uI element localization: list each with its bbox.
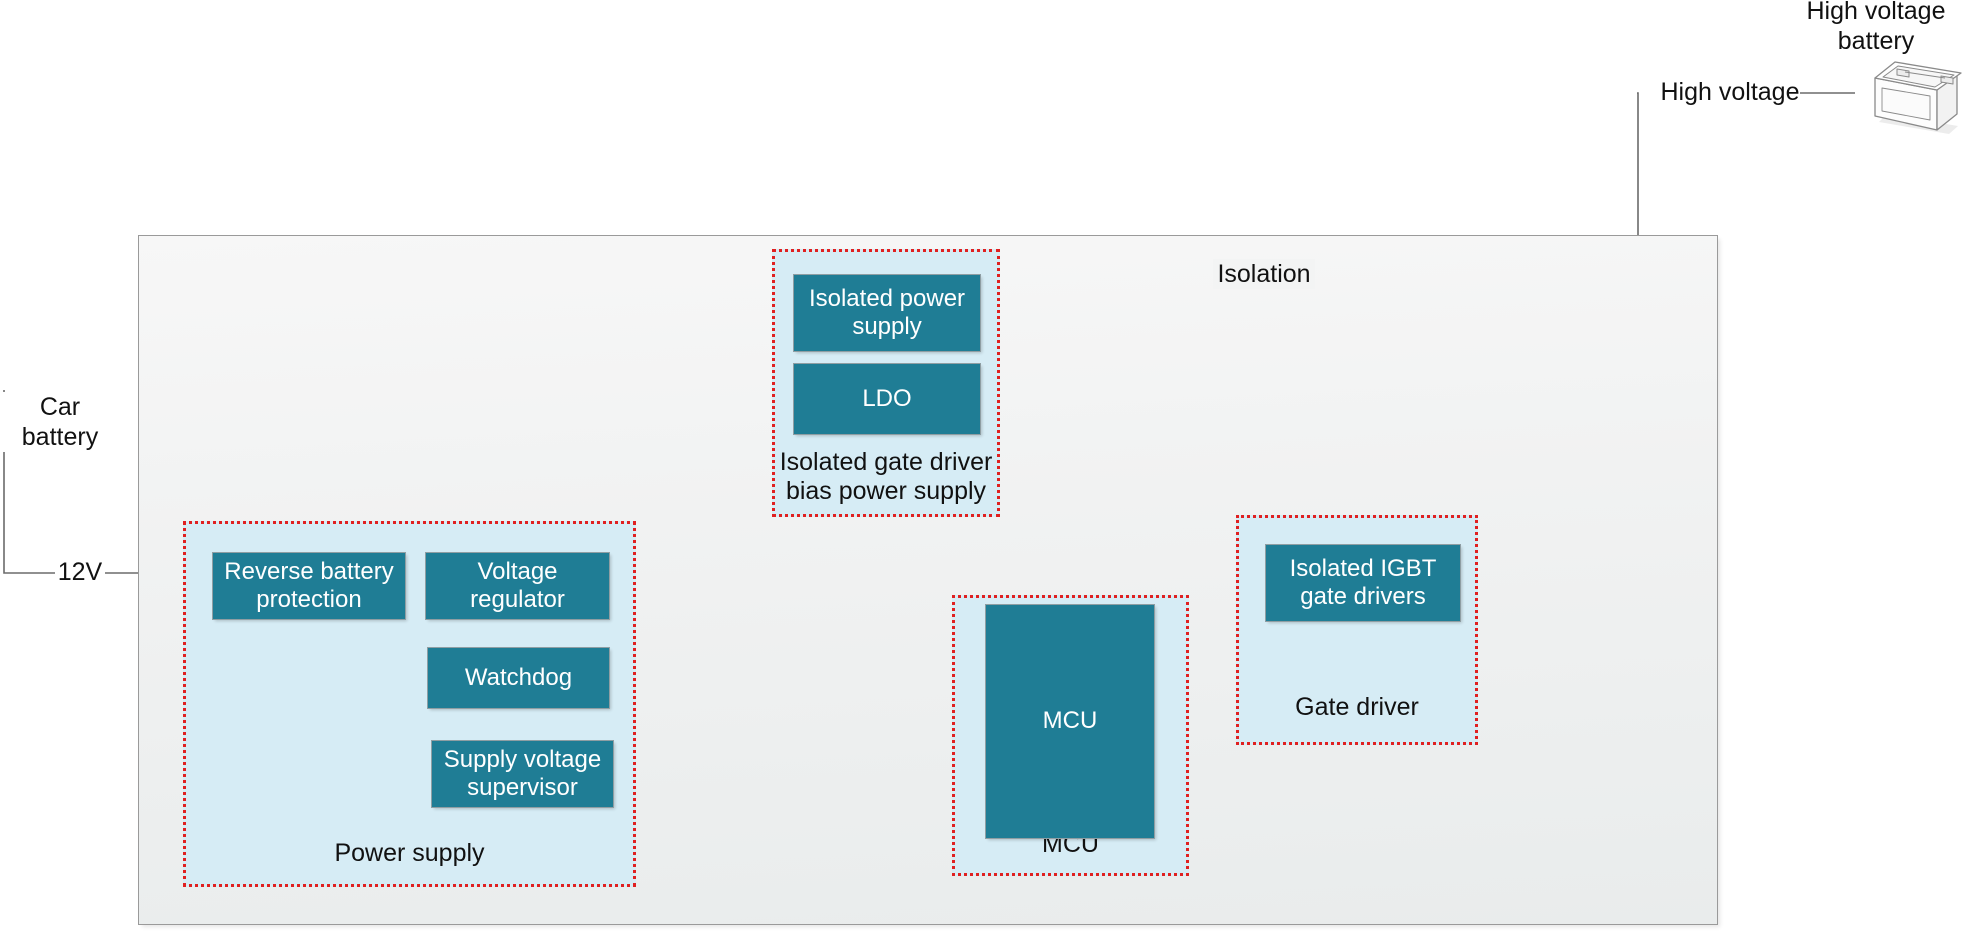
- block-mcu[interactable]: MCU: [985, 604, 1155, 839]
- twelve-volt-label: 12V: [55, 557, 105, 587]
- block-isolated-igbt-gate-drivers[interactable]: Isolated IGBT gate drivers: [1265, 544, 1461, 622]
- group-caption-gate-driver: Gate driver: [1239, 693, 1475, 722]
- diagram-canvas: Car battery 12V High voltage High voltag…: [0, 0, 1976, 932]
- group-caption-isolated-bias-supply: Isolated gate driver bias power supply: [775, 448, 997, 506]
- high-voltage-battery-illustration: [1857, 48, 1969, 144]
- block-ldo[interactable]: LDO: [793, 363, 981, 435]
- isolation-label: Isolation: [1213, 259, 1315, 289]
- block-isolated-power-supply[interactable]: Isolated power supply: [793, 274, 981, 352]
- group-caption-power-supply: Power supply: [186, 839, 633, 868]
- high-voltage-label: High voltage: [1660, 77, 1800, 107]
- block-supply-voltage-supervisor[interactable]: Supply voltage supervisor: [431, 740, 614, 808]
- block-voltage-regulator[interactable]: Voltage regulator: [425, 552, 610, 620]
- car-battery-label: Car battery: [0, 392, 120, 452]
- block-watchdog[interactable]: Watchdog: [427, 647, 610, 709]
- block-reverse-battery-protection[interactable]: Reverse battery protection: [212, 552, 406, 620]
